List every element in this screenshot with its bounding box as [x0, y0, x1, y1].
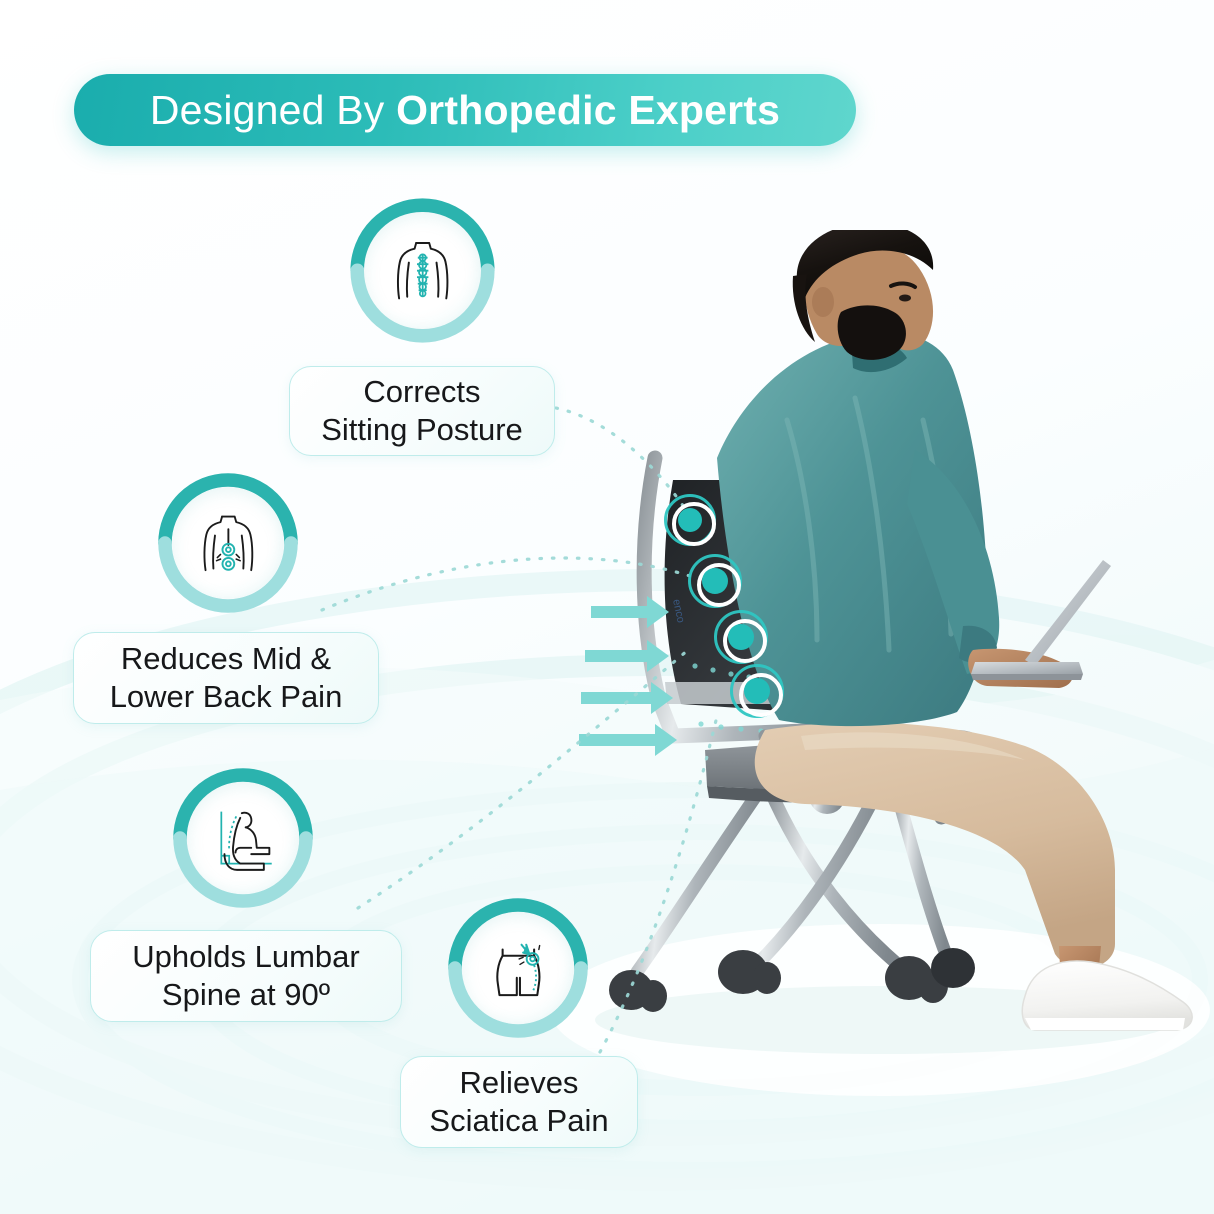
- label-text: Upholds Lumbar Spine at 90º: [132, 938, 359, 1014]
- marker-mid-back-support[interactable]: [688, 554, 742, 608]
- header-banner: Designed By Orthopedic Experts: [74, 74, 856, 146]
- marker-core: [728, 624, 754, 650]
- infographic-canvas: Designed By Orthopedic Experts: [0, 0, 1214, 1214]
- badge-corrects-sitting-posture[interactable]: [345, 193, 500, 348]
- back-pain-points-icon: [189, 504, 268, 583]
- header-title-light: Designed By: [150, 87, 396, 133]
- label-upholds-lumbar-spine[interactable]: Upholds Lumbar Spine at 90º: [90, 930, 402, 1022]
- header-title-bold: Orthopedic Experts: [396, 87, 780, 133]
- sciatica-hip-icon: [479, 929, 558, 1008]
- spine-back-icon: [382, 230, 463, 311]
- badge-reduces-back-pain[interactable]: [153, 468, 303, 618]
- header-title: Designed By Orthopedic Experts: [150, 90, 780, 131]
- badge-inner-disc: [364, 212, 480, 328]
- badge-inner-disc: [187, 782, 300, 895]
- badge-inner-disc: [172, 487, 285, 600]
- connector-back-pain: [322, 558, 690, 610]
- label-text: Corrects Sitting Posture: [321, 373, 523, 449]
- marker-core: [744, 678, 770, 704]
- badge-upholds-lumbar-spine[interactable]: [168, 763, 318, 913]
- connector-sciatica: [600, 712, 718, 1052]
- label-text: Reduces Mid & Lower Back Pain: [110, 640, 343, 716]
- badge-inner-disc: [462, 912, 575, 1025]
- marker-seat-hip-support[interactable]: [730, 664, 784, 718]
- label-reduces-back-pain[interactable]: Reduces Mid & Lower Back Pain: [73, 632, 379, 724]
- marker-core: [702, 568, 728, 594]
- label-text: Relieves Sciatica Pain: [429, 1064, 608, 1140]
- marker-lumbar-support[interactable]: [714, 610, 768, 664]
- connector-lumbar: [358, 650, 688, 908]
- label-corrects-sitting-posture[interactable]: Corrects Sitting Posture: [289, 366, 555, 456]
- seated-posture-90deg-icon: [204, 799, 283, 878]
- label-relieves-sciatica-pain[interactable]: Relieves Sciatica Pain: [400, 1056, 638, 1148]
- badge-relieves-sciatica-pain[interactable]: [443, 893, 593, 1043]
- marker-upper-back-support[interactable]: [664, 494, 716, 546]
